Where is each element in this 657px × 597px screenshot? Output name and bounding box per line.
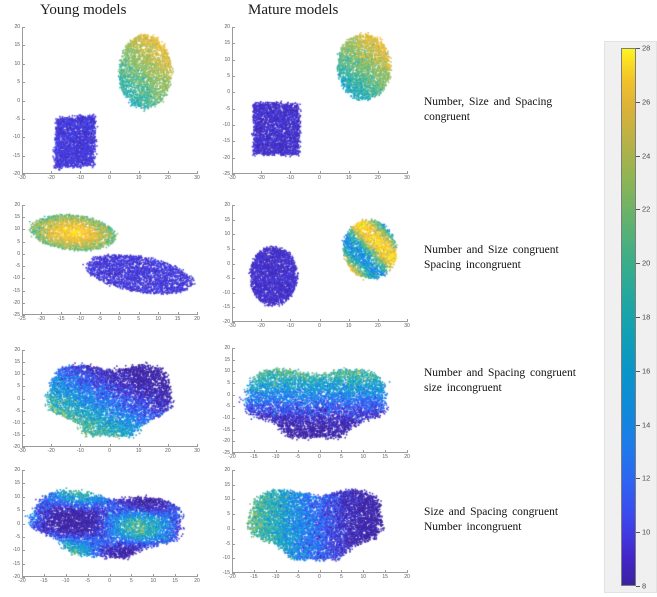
- x-tick: [119, 312, 120, 315]
- y-tick-label: -15: [8, 288, 20, 294]
- y-tick: [22, 82, 25, 83]
- y-tick-label: -15: [218, 570, 230, 576]
- y-tick: [22, 537, 25, 538]
- y-tick-label: -15: [8, 561, 20, 567]
- scatter-plot-young-row-1: -30-20-100102030-20-15-10-505101520: [22, 27, 197, 174]
- x-tick-label: 0: [318, 574, 321, 580]
- colorbar-tick: [636, 317, 640, 318]
- colorbar-tick: [636, 48, 640, 49]
- y-tick: [22, 217, 25, 218]
- y-tick: [232, 27, 235, 28]
- x-tick: [407, 171, 408, 174]
- y-tick: [22, 435, 25, 436]
- y-tick: [232, 109, 235, 110]
- scatter-points-mature-row-2: [232, 205, 407, 322]
- y-tick: [232, 544, 235, 545]
- y-tick-label: -25: [218, 450, 230, 456]
- y-tick: [232, 430, 235, 431]
- condition-label-row-4-line2: Number incongruent: [424, 520, 604, 535]
- y-tick: [232, 220, 235, 221]
- y-tick: [22, 374, 25, 375]
- y-tick: [22, 278, 25, 279]
- x-tick-label: 0: [108, 578, 111, 584]
- x-tick: [51, 171, 52, 174]
- x-tick: [139, 312, 140, 315]
- colorbar-tick-label: 10: [642, 528, 650, 537]
- y-tick: [22, 27, 25, 28]
- x-tick: [139, 171, 140, 174]
- y-tick: [232, 264, 235, 265]
- y-tick: [22, 470, 25, 471]
- y-tick-label: 15: [218, 40, 230, 46]
- y-tick: [22, 350, 25, 351]
- y-tick: [232, 529, 235, 530]
- x-tick: [88, 574, 89, 577]
- y-tick: [232, 558, 235, 559]
- x-tick: [197, 171, 198, 174]
- y-tick-label: 5: [8, 79, 20, 85]
- column-title-young: Young models: [40, 2, 126, 19]
- y-tick-label: 0: [218, 89, 230, 95]
- y-tick-label: 10: [8, 226, 20, 232]
- y-tick-label: -5: [8, 116, 20, 122]
- x-tick-label: 0: [318, 454, 321, 460]
- y-tick-label: -20: [218, 319, 230, 325]
- x-tick-label: -10: [287, 323, 294, 329]
- y-tick: [22, 411, 25, 412]
- x-tick: [41, 312, 42, 315]
- x-tick: [341, 570, 342, 573]
- y-tick-label: 0: [8, 98, 20, 104]
- y-tick-label: -20: [8, 574, 20, 580]
- x-tick-label: -5: [85, 578, 89, 584]
- y-tick: [232, 158, 235, 159]
- y-tick: [22, 362, 25, 363]
- x-tick: [385, 570, 386, 573]
- y-tick-label: -20: [8, 300, 20, 306]
- y-tick: [232, 307, 235, 308]
- x-tick: [168, 171, 169, 174]
- x-tick-label: 20: [165, 448, 171, 454]
- scatter-plot-mature-row-1: -30-20-100102030-25-20-15-10-505101520: [232, 27, 407, 174]
- x-tick: [290, 171, 291, 174]
- x-tick: [407, 450, 408, 453]
- y-tick: [232, 234, 235, 235]
- condition-label-row-2-line2: Spacing incongruent: [424, 258, 604, 273]
- y-tick-label: 15: [218, 357, 230, 363]
- y-tick-label: -15: [218, 138, 230, 144]
- colorbar-tick-label: 28: [642, 44, 650, 53]
- y-tick-label: 10: [218, 368, 230, 374]
- x-tick-label: 10: [136, 448, 142, 454]
- x-tick: [254, 450, 255, 453]
- x-tick: [44, 574, 45, 577]
- x-tick-label: 10: [360, 574, 366, 580]
- x-tick: [298, 450, 299, 453]
- y-tick: [22, 303, 25, 304]
- colorbar-tick: [636, 156, 640, 157]
- scatter-plot-mature-row-4: -20-15-10-505101520-15-10-505101520: [232, 470, 407, 573]
- colorbar-tick: [636, 209, 640, 210]
- y-tick: [22, 550, 25, 551]
- y-tick-label: 20: [8, 467, 20, 473]
- y-tick-label: -20: [8, 444, 20, 450]
- condition-label-row-4-line1: Size and Spacing congruent: [424, 505, 604, 520]
- y-tick-label: 20: [218, 202, 230, 208]
- x-tick-label: 0: [118, 316, 121, 322]
- y-tick: [232, 278, 235, 279]
- y-tick: [232, 360, 235, 361]
- y-tick-label: 0: [218, 392, 230, 398]
- x-tick: [100, 312, 101, 315]
- y-tick: [232, 485, 235, 486]
- colorbar-tick-label: 20: [642, 259, 650, 268]
- x-tick-label: 15: [175, 316, 181, 322]
- x-tick-label: 30: [194, 175, 200, 181]
- x-tick: [349, 171, 350, 174]
- y-tick: [22, 447, 25, 448]
- y-tick-label: 5: [218, 511, 230, 517]
- y-tick: [22, 254, 25, 255]
- condition-label-row-1-line1: Number, Size and Spacing: [424, 95, 604, 110]
- y-axis-line: [232, 27, 233, 174]
- y-tick: [232, 293, 235, 294]
- y-tick-label: -20: [218, 438, 230, 444]
- x-tick-label: -20: [258, 323, 265, 329]
- x-tick: [276, 450, 277, 453]
- x-tick-label: -15: [57, 316, 64, 322]
- y-tick: [232, 60, 235, 61]
- column-title-mature: Mature models: [248, 2, 338, 19]
- y-tick: [22, 64, 25, 65]
- x-tick: [349, 319, 350, 322]
- y-tick-label: 15: [218, 482, 230, 488]
- colorbar-tick-label: 22: [642, 205, 650, 214]
- y-tick-label: -15: [8, 432, 20, 438]
- colorbar-tick-label: 24: [642, 151, 650, 160]
- x-tick: [254, 570, 255, 573]
- x-tick: [131, 574, 132, 577]
- x-tick: [61, 312, 62, 315]
- x-tick: [139, 444, 140, 447]
- colorbar-tick: [636, 425, 640, 426]
- y-tick-label: 5: [218, 246, 230, 252]
- x-tick: [363, 450, 364, 453]
- colorbar-tick: [636, 371, 640, 372]
- y-tick-label: 10: [218, 231, 230, 237]
- x-tick-label: 10: [346, 175, 352, 181]
- y-tick-label: 20: [8, 202, 20, 208]
- y-tick-label: 10: [218, 57, 230, 63]
- colorbar-tick-label: 14: [642, 420, 650, 429]
- y-tick-label: 10: [8, 61, 20, 67]
- y-tick-label: 0: [218, 261, 230, 267]
- colorbar: 282624222018161412108: [604, 41, 657, 593]
- colorbar-tick: [636, 532, 640, 533]
- x-tick-label: -10: [77, 316, 84, 322]
- x-tick-label: 15: [382, 454, 388, 460]
- condition-label-row-4: Size and Spacing congruent Number incong…: [424, 505, 604, 535]
- colorbar-tick-label: 16: [642, 366, 650, 375]
- y-tick-label: 15: [8, 359, 20, 365]
- x-tick: [363, 570, 364, 573]
- x-tick: [261, 319, 262, 322]
- x-tick: [110, 574, 111, 577]
- colorbar-tick-label: 18: [642, 313, 650, 322]
- x-tick-label: -15: [250, 454, 257, 460]
- x-tick: [320, 171, 321, 174]
- x-tick-label: -20: [258, 175, 265, 181]
- x-tick-label: -10: [77, 448, 84, 454]
- y-tick: [22, 423, 25, 424]
- y-tick: [22, 242, 25, 243]
- x-axis-line: [22, 314, 197, 315]
- y-tick-label: 5: [8, 239, 20, 245]
- y-axis-line: [22, 205, 23, 315]
- x-tick-label: -5: [98, 316, 102, 322]
- y-tick-label: -10: [8, 547, 20, 553]
- x-tick-label: 10: [136, 175, 142, 181]
- y-tick-label: 20: [218, 467, 230, 473]
- scatter-plot-young-row-4: -20-15-10-505101520-20-15-10-505101520: [22, 470, 197, 577]
- y-tick: [22, 137, 25, 138]
- x-tick-label: 15: [382, 574, 388, 580]
- x-tick: [298, 570, 299, 573]
- y-tick: [232, 573, 235, 574]
- x-tick-label: 30: [404, 175, 410, 181]
- colorbar-tick-label: 8: [642, 582, 646, 591]
- y-tick-label: 5: [218, 73, 230, 79]
- y-tick-label: -10: [8, 275, 20, 281]
- y-tick-label: 10: [218, 496, 230, 502]
- x-tick-label: 20: [165, 175, 171, 181]
- x-tick: [80, 171, 81, 174]
- y-tick: [22, 564, 25, 565]
- y-tick: [22, 266, 25, 267]
- x-tick: [290, 319, 291, 322]
- y-tick-label: 20: [218, 24, 230, 30]
- y-tick-label: 5: [218, 380, 230, 386]
- x-tick: [320, 450, 321, 453]
- y-tick: [232, 514, 235, 515]
- y-tick-label: 15: [218, 217, 230, 223]
- y-tick-label: -10: [218, 290, 230, 296]
- y-tick: [232, 418, 235, 419]
- y-tick-label: 0: [8, 396, 20, 402]
- y-tick: [232, 470, 235, 471]
- y-tick-label: -10: [218, 415, 230, 421]
- x-tick: [320, 319, 321, 322]
- x-tick-label: -10: [272, 574, 279, 580]
- y-tick-label: -5: [8, 534, 20, 540]
- condition-label-row-2: Number and Size congruent Spacing incong…: [424, 243, 604, 273]
- condition-label-row-3-line1: Number and Spacing congruent: [424, 366, 604, 381]
- x-tick-label: -15: [40, 578, 47, 584]
- x-tick-label: 10: [155, 316, 161, 322]
- colorbar-tick-label: 12: [642, 474, 650, 483]
- y-tick: [232, 249, 235, 250]
- x-tick: [407, 570, 408, 573]
- condition-label-row-1-line2: congruent: [424, 110, 604, 125]
- x-tick-label: -10: [62, 578, 69, 584]
- y-tick: [22, 524, 25, 525]
- y-tick-label: 0: [8, 251, 20, 257]
- y-tick: [232, 43, 235, 44]
- condition-label-row-1: Number, Size and Spacing congruent: [424, 95, 604, 125]
- x-tick-label: 0: [318, 175, 321, 181]
- scatter-plot-young-row-2: -25-20-15-10-505101520-25-20-15-10-50510…: [22, 205, 197, 315]
- y-tick: [22, 291, 25, 292]
- scatter-points-mature-row-3: [232, 348, 407, 453]
- x-tick-label: 0: [318, 323, 321, 329]
- x-tick-label: 10: [150, 578, 156, 584]
- x-tick: [385, 450, 386, 453]
- x-tick-label: 5: [340, 574, 343, 580]
- y-tick: [232, 141, 235, 142]
- y-tick: [232, 453, 235, 454]
- x-tick-label: 15: [172, 578, 178, 584]
- scatter-points-mature-row-4: [232, 470, 407, 573]
- x-tick-label: 10: [346, 323, 352, 329]
- x-tick: [276, 570, 277, 573]
- scatter-points-young-row-4: [22, 470, 197, 577]
- x-tick-label: 5: [130, 578, 133, 584]
- x-tick-label: 30: [194, 448, 200, 454]
- colorbar-gradient: [621, 48, 636, 586]
- x-tick-label: -5: [295, 454, 299, 460]
- y-tick-label: -20: [8, 171, 20, 177]
- y-tick: [232, 125, 235, 126]
- x-tick-label: 20: [194, 316, 200, 322]
- x-tick: [197, 574, 198, 577]
- x-tick: [51, 444, 52, 447]
- x-tick: [261, 171, 262, 174]
- y-tick: [232, 322, 235, 323]
- x-tick-label: -20: [48, 448, 55, 454]
- y-tick: [232, 348, 235, 349]
- y-tick: [22, 399, 25, 400]
- x-tick-label: 20: [404, 574, 410, 580]
- y-tick: [22, 497, 25, 498]
- scatter-points-young-row-2: [22, 205, 197, 315]
- x-tick: [168, 444, 169, 447]
- y-tick-label: -15: [218, 427, 230, 433]
- y-tick-label: 20: [8, 24, 20, 30]
- y-tick-label: -5: [218, 275, 230, 281]
- y-tick: [232, 499, 235, 500]
- colorbar-tick: [636, 586, 640, 587]
- x-tick: [341, 450, 342, 453]
- y-tick: [232, 371, 235, 372]
- x-tick: [378, 319, 379, 322]
- x-tick: [178, 312, 179, 315]
- y-tick-label: 0: [218, 526, 230, 532]
- x-tick-label: 0: [108, 448, 111, 454]
- x-tick-label: 20: [375, 323, 381, 329]
- y-tick-label: -25: [218, 171, 230, 177]
- scatter-plot-mature-row-3: -20-15-10-505101520-25-20-15-10-50510152…: [232, 348, 407, 453]
- y-tick: [22, 483, 25, 484]
- x-tick: [320, 570, 321, 573]
- x-tick: [80, 444, 81, 447]
- scatter-plot-young-row-3: -30-20-100102030-20-15-10-505101520: [22, 350, 197, 447]
- y-tick: [232, 441, 235, 442]
- x-tick: [197, 444, 198, 447]
- y-tick-label: -10: [8, 134, 20, 140]
- scatter-plot-mature-row-2: -30-20-100102030-20-15-10-505101520: [232, 205, 407, 322]
- x-tick-label: -20: [38, 316, 45, 322]
- y-tick-label: 10: [8, 371, 20, 377]
- x-tick-label: -10: [287, 175, 294, 181]
- x-tick: [153, 574, 154, 577]
- x-tick-label: -10: [272, 454, 279, 460]
- y-tick: [22, 156, 25, 157]
- y-tick: [232, 92, 235, 93]
- colorbar-tick: [636, 478, 640, 479]
- y-tick: [22, 174, 25, 175]
- y-tick: [22, 229, 25, 230]
- x-tick-label: 20: [194, 578, 200, 584]
- x-tick-label: 20: [375, 175, 381, 181]
- x-tick: [110, 444, 111, 447]
- colorbar-tick: [636, 102, 640, 103]
- y-tick-label: -20: [218, 155, 230, 161]
- x-tick: [197, 312, 198, 315]
- x-tick: [407, 319, 408, 322]
- y-tick-label: -15: [8, 153, 20, 159]
- x-tick: [175, 574, 176, 577]
- y-tick: [22, 510, 25, 511]
- scatter-points-young-row-1: [22, 27, 197, 174]
- x-tick: [110, 171, 111, 174]
- x-tick-label: -5: [295, 574, 299, 580]
- y-tick-label: -15: [218, 304, 230, 310]
- colorbar-tick-label: 26: [642, 97, 650, 106]
- x-tick-label: 0: [108, 175, 111, 181]
- y-tick-label: -5: [218, 106, 230, 112]
- y-tick-label: 15: [8, 480, 20, 486]
- y-tick-label: -5: [8, 263, 20, 269]
- y-tick: [22, 205, 25, 206]
- y-tick-label: 10: [8, 494, 20, 500]
- x-tick-label: -20: [48, 175, 55, 181]
- y-tick: [232, 383, 235, 384]
- x-tick-label: -10: [77, 175, 84, 181]
- y-axis-line: [232, 348, 233, 453]
- y-tick: [232, 395, 235, 396]
- y-tick: [232, 174, 235, 175]
- y-tick-label: -5: [8, 408, 20, 414]
- y-tick-label: 15: [8, 42, 20, 48]
- y-tick: [22, 119, 25, 120]
- y-tick-label: -5: [218, 541, 230, 547]
- y-tick: [22, 315, 25, 316]
- x-tick: [80, 312, 81, 315]
- y-tick: [22, 386, 25, 387]
- y-tick-label: 20: [218, 345, 230, 351]
- x-tick: [378, 171, 379, 174]
- y-tick-label: -25: [8, 312, 20, 318]
- y-tick-label: 5: [8, 383, 20, 389]
- colorbar-tick: [636, 263, 640, 264]
- y-tick-label: 15: [8, 214, 20, 220]
- y-tick-label: 0: [8, 521, 20, 527]
- scatter-points-mature-row-1: [232, 27, 407, 174]
- x-tick-label: 20: [404, 454, 410, 460]
- x-tick-label: 30: [404, 323, 410, 329]
- x-tick-label: 5: [137, 316, 140, 322]
- x-tick-label: 10: [360, 454, 366, 460]
